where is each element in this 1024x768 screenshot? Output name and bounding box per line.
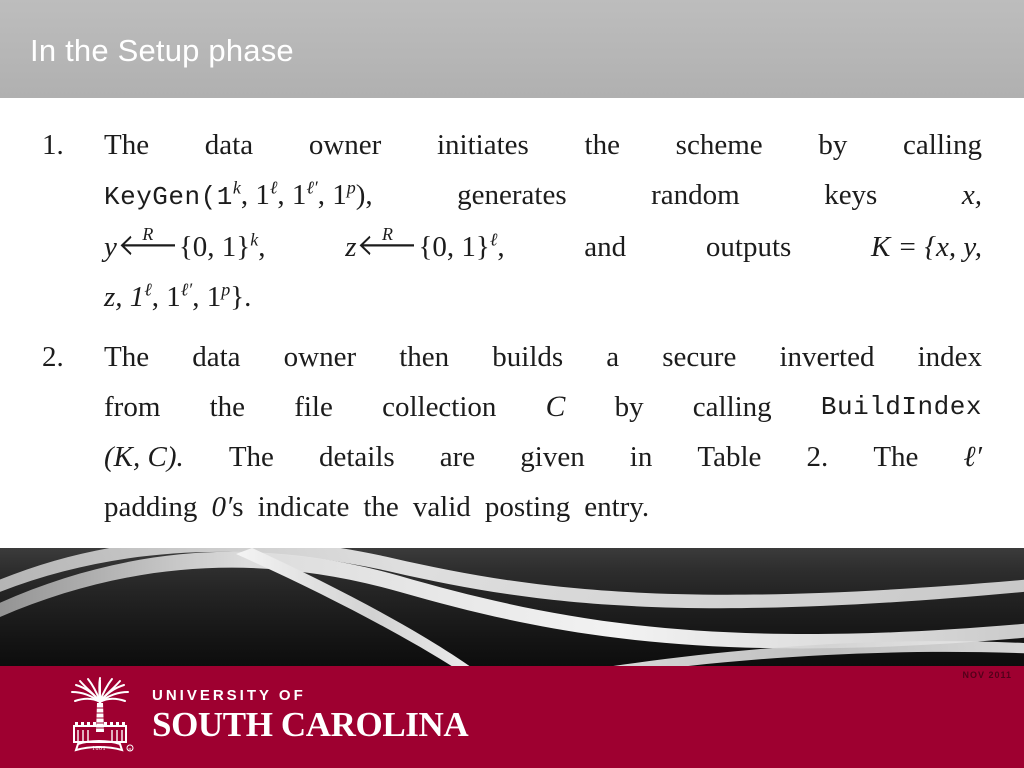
text-line: padding 0′s indicate the valid posting e… (104, 482, 982, 532)
date-stamp: NOV 2011 (962, 670, 1012, 680)
word: are (440, 432, 475, 482)
word: secure (662, 332, 736, 382)
list-item-body: The data owner then builds a secure inve… (104, 332, 982, 532)
word: padding (104, 482, 197, 532)
word: data (192, 332, 240, 382)
math-args: (K, C). (104, 432, 184, 482)
math-key-set: K = {x, y, (871, 222, 982, 272)
presentation-slide: In the Setup phase 1. The data owner ini… (0, 0, 1024, 768)
word: data (205, 120, 253, 170)
word: initiates (437, 120, 529, 170)
word: the (585, 120, 620, 170)
list-item: 2. The data owner then builds a secure i… (42, 332, 982, 532)
table-reference-label: Table (697, 432, 761, 482)
text-line-buildindex: from the file collection C by calling Bu… (104, 382, 982, 432)
word: collection (382, 382, 496, 432)
list-item-body: The data owner initiates the scheme by c… (104, 120, 982, 322)
ribbon-curve-3 (236, 548, 486, 666)
word: details (319, 432, 395, 482)
word: file (294, 382, 333, 432)
word: by (818, 120, 847, 170)
word: owner (284, 332, 356, 382)
word: The (873, 432, 918, 482)
word: inverted (779, 332, 874, 382)
word: outputs (706, 222, 791, 272)
word: entry. (584, 482, 649, 532)
word: a (606, 332, 619, 382)
text-line-key-tail: z, 1ℓ, 1ℓ′, 1p}. (104, 272, 982, 322)
word: keys (824, 170, 877, 222)
word: The (229, 432, 274, 482)
random-assignment-y: yR{0, 1}k, (104, 222, 265, 272)
word: calling (693, 382, 772, 432)
word: indicate (258, 482, 350, 532)
list-item-number: 2. (42, 332, 104, 382)
table-reference-number: 2. (807, 432, 829, 482)
usc-wordmark-line1: UNIVERSITY OF (152, 688, 468, 705)
word: The (104, 332, 149, 382)
random-arrow-icon: R (356, 227, 418, 256)
word: the (210, 382, 245, 432)
page-title: In the Setup phase (30, 34, 294, 68)
word: posting (485, 482, 570, 532)
word: generates (457, 170, 567, 222)
text-line: The data owner then builds a secure inve… (104, 332, 982, 382)
random-arrow-icon: R (117, 227, 179, 256)
text-line: The data owner initiates the scheme by c… (104, 120, 982, 170)
slide-header-band: In the Setup phase (0, 0, 1024, 98)
list-item: 1. The data owner initiates the scheme b… (42, 120, 982, 322)
ribbon-curves-graphic (0, 548, 1024, 666)
word: the (363, 482, 398, 532)
decorative-ribbon-band (0, 548, 1024, 666)
word: in (630, 432, 653, 482)
palmetto-tree-emblem-icon: 1801 R (60, 674, 138, 756)
word: random (651, 170, 740, 222)
word: owner (309, 120, 381, 170)
word: then (399, 332, 449, 382)
word: calling (903, 120, 982, 170)
word: from (104, 382, 160, 432)
math-symbol-collection: C (546, 382, 566, 432)
usc-wordmark: UNIVERSITY OF SOUTH CAROLINA (152, 688, 468, 742)
math-symbol-x: x, (962, 170, 982, 222)
word: by (615, 382, 644, 432)
word: builds (492, 332, 563, 382)
word: and (584, 222, 626, 272)
word: given (520, 432, 584, 482)
usc-logo: 1801 R UNIVERSITY OF SOUTH CAROLINA (60, 674, 468, 756)
ribbon-curve-2 (0, 548, 1024, 608)
word: The (104, 120, 149, 170)
text-line-random-assign: yR{0, 1}k, zR{0, 1}ℓ, and outputs K = {x… (104, 222, 982, 272)
slide-footer-band: 1801 R UNIVERSITY OF SOUTH CAROLINA NOV … (0, 666, 1024, 768)
slide-content-area: 1. The data owner initiates the scheme b… (0, 98, 1024, 548)
text-line-table-ref: (K, C). The details are given in Table 2… (104, 432, 982, 482)
svg-text:R: R (129, 746, 132, 751)
math-zero-padding: 0′s (211, 482, 243, 532)
word: scheme (676, 120, 763, 170)
usc-wordmark-line2: SOUTH CAROLINA (152, 707, 468, 742)
word: valid (413, 482, 471, 532)
word: index (918, 332, 982, 382)
list-item-number: 1. (42, 120, 104, 170)
svg-text:1801: 1801 (92, 746, 106, 752)
buildindex-call: BuildIndex (821, 382, 982, 432)
math-symbol-ell-prime: ℓ′ (964, 432, 982, 482)
text-line-keygen: KeyGen(1k, 1ℓ, 1ℓ′, 1p), generates rando… (104, 170, 982, 222)
random-assignment-z: zR{0, 1}ℓ, (345, 222, 504, 272)
